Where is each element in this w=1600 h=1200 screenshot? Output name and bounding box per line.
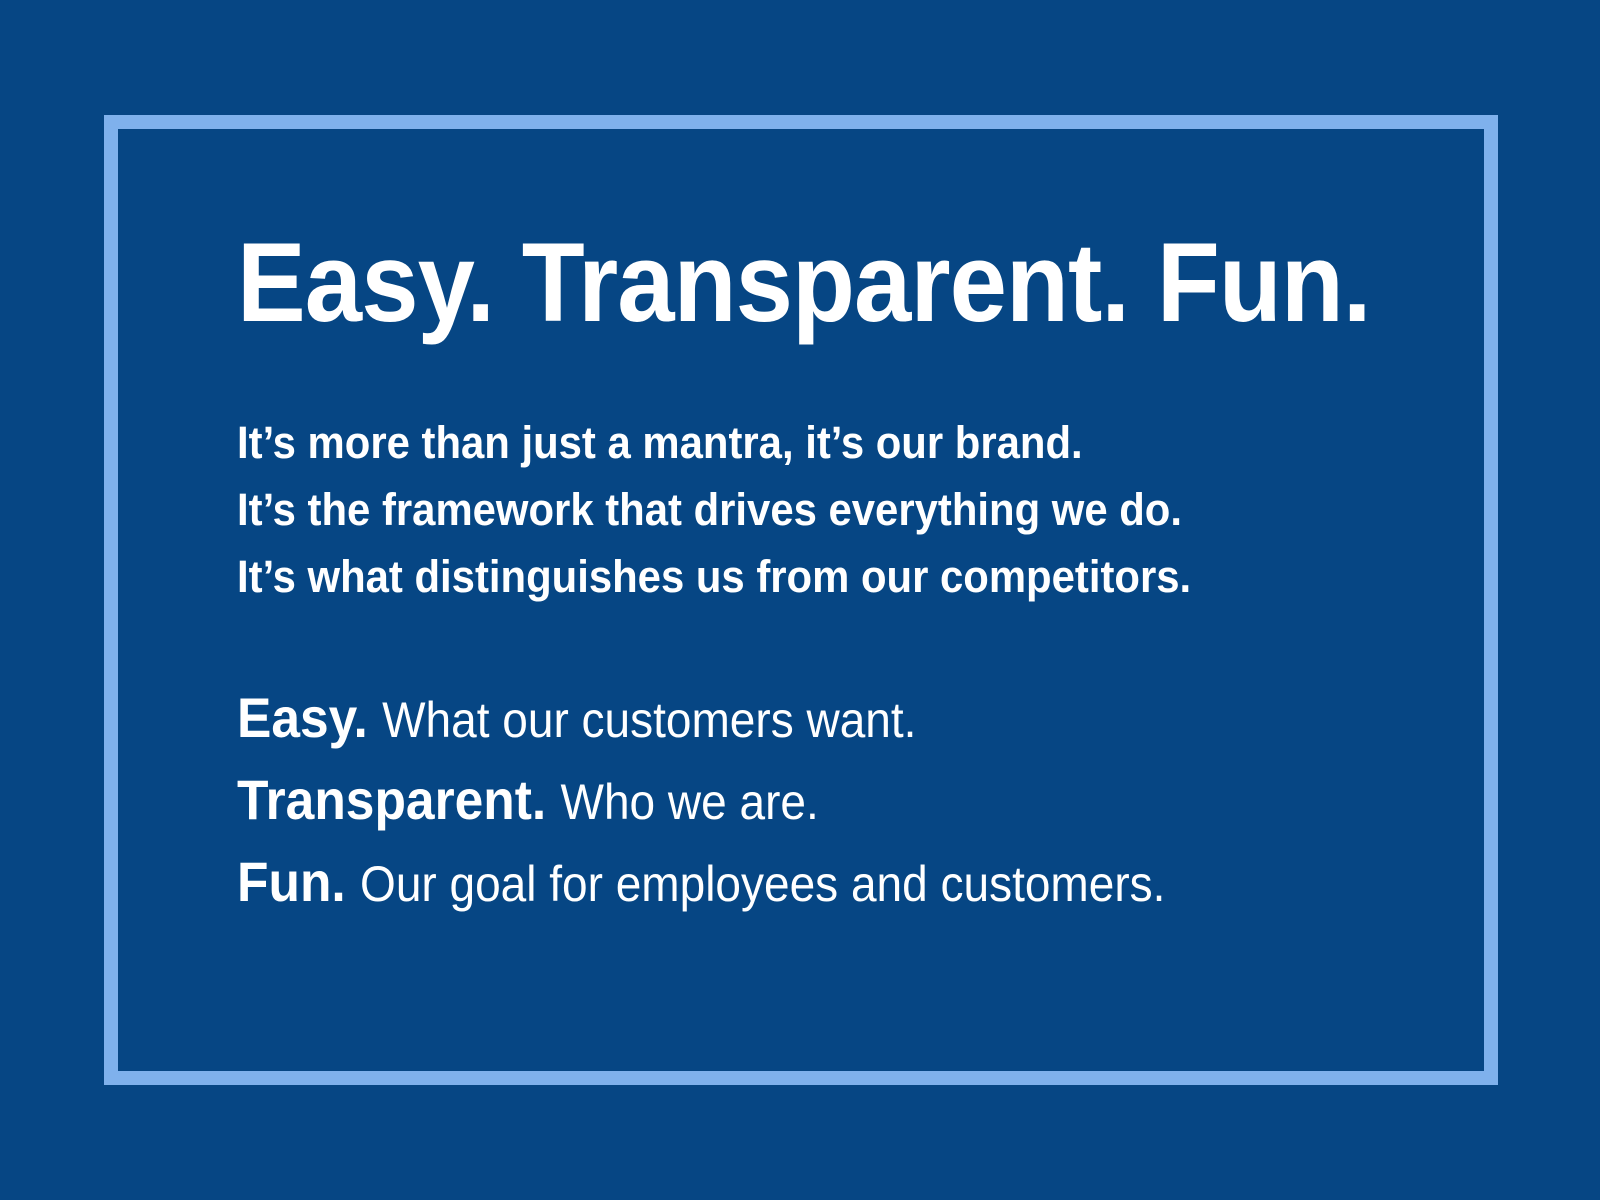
definition-term: Fun.	[237, 850, 346, 913]
definitions-list: Easy. What our customers want. Transpare…	[237, 678, 1427, 924]
mantra-line: It’s more than just a mantra, it’s our b…	[237, 409, 1344, 476]
definition-term: Transparent.	[237, 768, 546, 831]
mantra-line: It’s the framework that drives everythin…	[237, 476, 1344, 543]
definition-item-transparent: Transparent. Who we are.	[237, 760, 1332, 842]
definition-description: Who we are.	[561, 774, 819, 830]
page-title: Easy. Transparent. Fun.	[237, 231, 1332, 335]
definition-term: Easy.	[237, 686, 368, 749]
mantra-line: It’s what distinguishes us from our comp…	[237, 543, 1344, 610]
mantra-paragraph: It’s more than just a mantra, it’s our b…	[237, 409, 1427, 610]
definition-item-easy: Easy. What our customers want.	[237, 678, 1332, 760]
slide-canvas: Easy. Transparent. Fun. It’s more than j…	[0, 0, 1600, 1200]
slide-content: Easy. Transparent. Fun. It’s more than j…	[237, 231, 1427, 924]
definition-description: What our customers want.	[382, 692, 916, 748]
definition-item-fun: Fun. Our goal for employees and customer…	[237, 842, 1332, 924]
definition-description: Our goal for employees and customers.	[360, 856, 1165, 912]
